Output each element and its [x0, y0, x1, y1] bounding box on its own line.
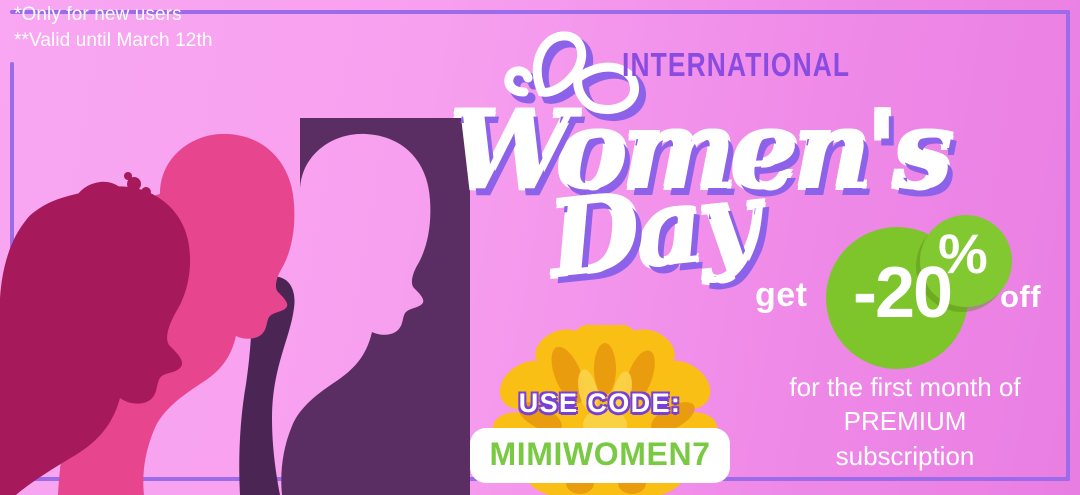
script-word-day: Day — [544, 158, 762, 302]
promo-code-block: USE CODE: MIMIWOMEN7 — [470, 388, 730, 483]
frame-border-right — [1066, 10, 1070, 481]
off-label: off — [1000, 279, 1041, 315]
womens-day-promo-banner: *Only for new users **Valid until March … — [0, 0, 1080, 495]
fine-print-line-2: **Valid until March 12th — [14, 28, 213, 54]
offer-description-line-3: subscription — [745, 439, 1065, 473]
women-silhouettes-illustration — [0, 118, 470, 495]
offer-description: for the first month of PREMIUM subscript… — [745, 370, 1065, 473]
offer-description-line-1: for the first month of — [745, 370, 1065, 404]
fine-print-block: *Only for new users **Valid until March … — [14, 2, 213, 53]
promo-code-value[interactable]: MIMIWOMEN7 — [470, 428, 730, 483]
offer-description-line-2: PREMIUM — [745, 404, 1065, 438]
get-label: get — [755, 276, 808, 315]
headline-lockup: INTERNATIONAL Women's Day — [432, 10, 852, 300]
fine-print-line-1: *Only for new users — [14, 2, 213, 28]
script-title: Women's Day — [432, 10, 852, 300]
promo-code-label: USE CODE: — [470, 388, 730, 419]
percent-symbol: % — [938, 226, 988, 282]
